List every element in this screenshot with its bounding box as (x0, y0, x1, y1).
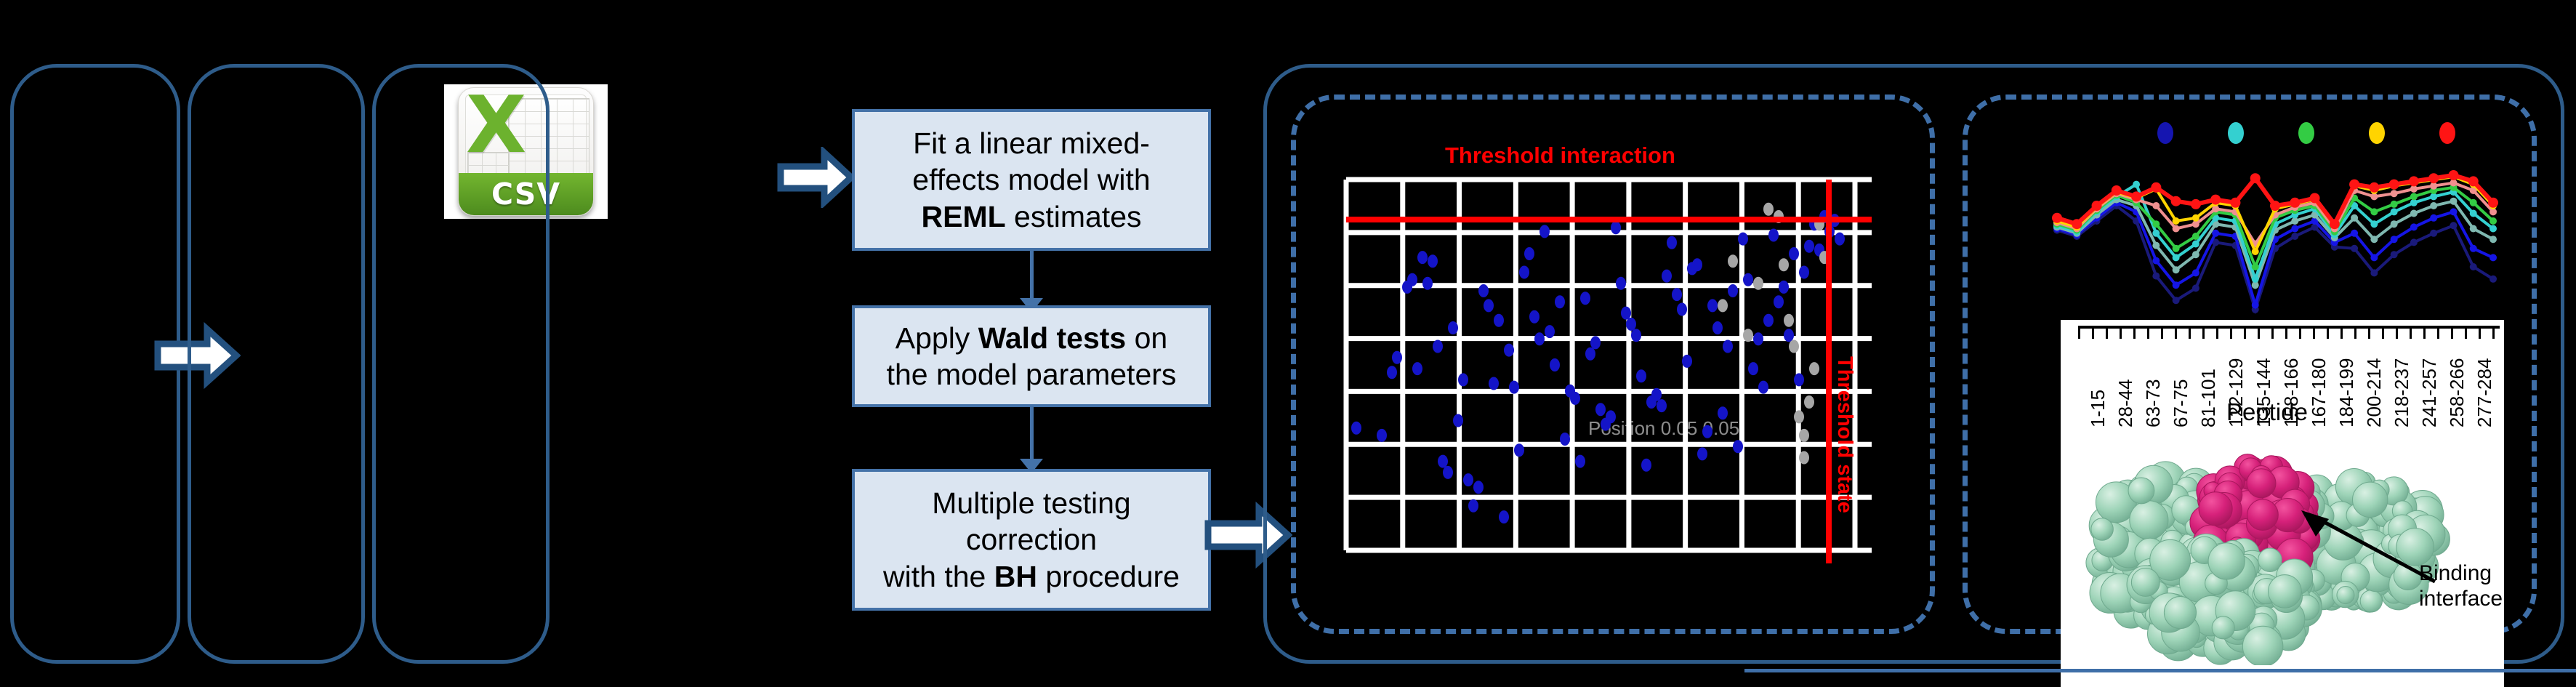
peptide-tick-label: 28-44 (2114, 379, 2137, 428)
peptide-tick-label: 241-257 (2418, 358, 2441, 427)
mt-line-1: Multiple testing (932, 486, 1130, 520)
peptide-tick-label: 200-214 (2363, 358, 2386, 427)
peptide-tick-label: 1-15 (2087, 390, 2109, 427)
peptide-axis-ruler (2078, 326, 2500, 339)
fit-line-3-tail: estimates (1006, 200, 1142, 233)
peptide-tick-label: 81-101 (2197, 369, 2220, 427)
binding-label-line2: interface (2419, 587, 2503, 612)
legend-dot-2 (2228, 122, 2244, 144)
wald-line-1-head: Apply (895, 321, 978, 355)
fit-line-2: effects model with (912, 163, 1150, 196)
peptide-tick-label: 218-237 (2391, 358, 2413, 427)
pipeline-diagram: X CSV Fit a linear mixed- effects model … (0, 0, 2576, 687)
fit-reml-strong: REML (922, 200, 1006, 233)
peptide-series (2052, 170, 2498, 313)
peptide-y-zero-label: 0.0 (2011, 320, 2038, 342)
peptide-tick-label: 258-266 (2446, 358, 2468, 427)
peptide-line-chart[interactable] (1992, 109, 2529, 327)
legend-dot-4 (2369, 122, 2385, 144)
peptide-axis-title: Peptide (2226, 398, 2308, 426)
connector-wald-to-mt (1030, 407, 1034, 464)
bottom-divider-line (1744, 669, 2576, 672)
mt-line-3-tail: procedure (1037, 560, 1180, 593)
volcano-svg: Position 0.05 0.05 (1330, 138, 1912, 589)
peptide-tick-label: 277-284 (2474, 358, 2496, 427)
step-fit-model[interactable]: Fit a linear mixed- effects model with R… (852, 109, 1211, 251)
threshold-state-label: Threshold state (1832, 356, 1856, 513)
wald-strong: Wald tests (978, 321, 1127, 355)
arrow-csv-to-model (776, 147, 855, 208)
binding-interface-pointer (2297, 509, 2442, 589)
wald-line-2: the model parameters (887, 358, 1177, 391)
peptide-tick-label: 67-75 (2170, 379, 2192, 428)
legend-dot-1 (2157, 122, 2173, 144)
fit-line-1: Fit a linear mixed- (913, 126, 1150, 160)
mt-bh-strong: BH (994, 560, 1037, 593)
mt-line-2: correction (966, 523, 1097, 556)
peptide-tick-label: 184-199 (2335, 358, 2358, 427)
volcano-plot[interactable]: Threshold interaction Position 0.05 0.05… (1330, 138, 1912, 589)
step-multiple-testing[interactable]: Multiple testing correction with the BH … (852, 469, 1211, 611)
panel-analysis[interactable] (372, 64, 550, 664)
wald-line-1-tail: on (1126, 321, 1167, 355)
peptide-tick-label: 167-180 (2308, 358, 2330, 427)
peptide-tick-label: 63-73 (2142, 379, 2165, 428)
panel-csv[interactable] (188, 64, 365, 664)
legend-dot-3 (2298, 122, 2314, 144)
step-wald-tests[interactable]: Apply Wald tests on the model parameters (852, 305, 1211, 407)
connector-fit-to-wald (1030, 251, 1034, 303)
legend-dot-5 (2439, 122, 2455, 144)
mt-line-3-head: with the (883, 560, 994, 593)
